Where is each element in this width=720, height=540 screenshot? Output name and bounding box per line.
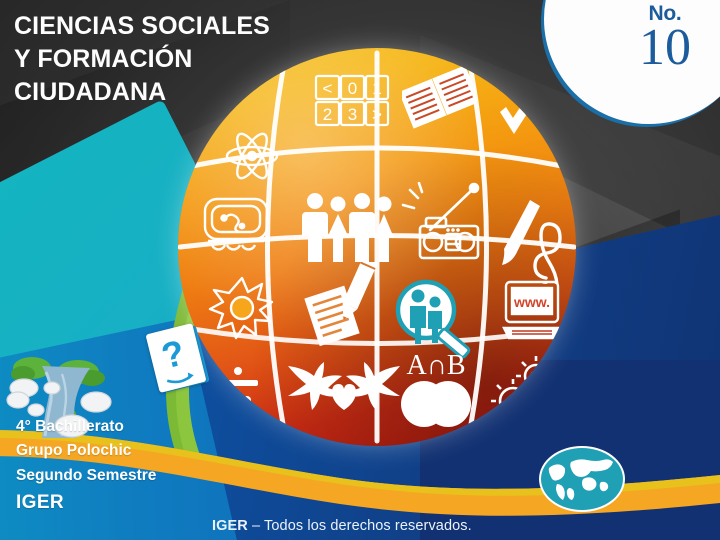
footer-separator: –	[252, 518, 260, 534]
copyright-footer: IGER – Todos los derechos reservados.	[212, 518, 472, 534]
title-line-3: CIUDADANA	[14, 76, 304, 109]
svg-text:?: ?	[157, 332, 188, 377]
footer-rights: Todos los derechos reservados.	[264, 518, 472, 534]
title-line-2: Y FORMACIÓN	[14, 43, 304, 76]
issue-number-text: No. 10	[626, 2, 704, 72]
cover-page: < 0 1 2 3 >	[0, 0, 720, 540]
world-map-icon	[541, 448, 619, 506]
footer-brand: IGER	[212, 518, 248, 534]
identity-block: 4° Bachillerato Grupo Polochic Segundo S…	[16, 415, 156, 518]
identity-term: Segundo Semestre	[16, 464, 156, 488]
identity-group: Grupo Polochic	[16, 439, 156, 463]
identity-grade: 4° Bachillerato	[16, 415, 156, 439]
world-map-badge	[539, 446, 625, 512]
title-line-1: CIENCIAS SOCIALES	[14, 10, 304, 43]
issue-number-value: 10	[626, 24, 704, 72]
page-title: CIENCIAS SOCIALES Y FORMACIÓN CIUDADANA	[14, 10, 304, 109]
identity-institution: IGER	[16, 488, 156, 518]
